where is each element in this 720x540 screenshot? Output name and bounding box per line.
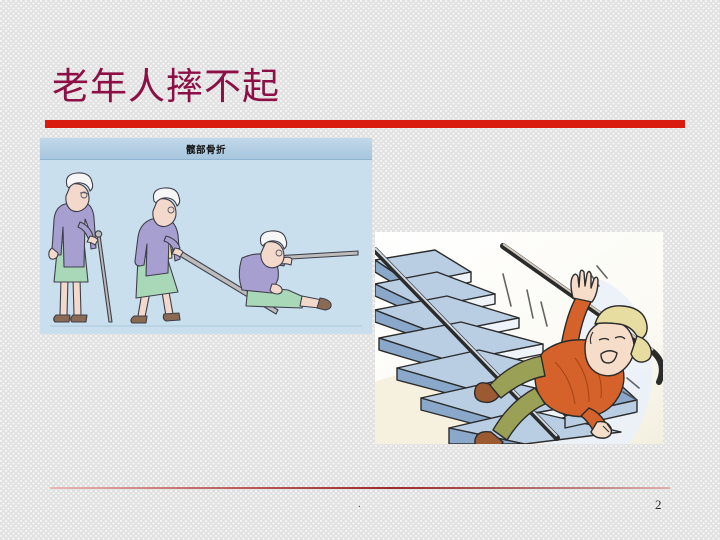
elderly-fall-sequence-illustration: .ol{stroke:#3f3f4a;stroke-width:1.1;stro… — [40, 160, 372, 334]
figure-stage-standing — [49, 173, 112, 322]
title-accent-bar — [45, 120, 685, 128]
figure-caption-bar: 髋部骨折 — [40, 138, 372, 160]
page-number: 2 — [655, 497, 662, 513]
figure-hip-fracture-sequence[interactable]: 髋部骨折 .ol{stroke:#3f3f4a;stroke-width:1.1… — [40, 138, 372, 334]
figure-stage-fallen — [239, 231, 358, 310]
figure-illustration-area: .ol{stroke:#3f3f4a;stroke-width:1.1;stro… — [40, 160, 372, 334]
figure-escalator-fall[interactable]: .so{stroke:#2b2b2b;stroke-width:1.4;stro… — [375, 232, 663, 444]
figure-caption-text: 髋部骨折 — [186, 142, 226, 156]
slide-canvas: 老年人摔不起 髋部骨折 .ol{stroke:#3f3f4a;stroke-wi… — [0, 0, 720, 540]
footer-marker: . — [358, 503, 361, 507]
footer-divider — [50, 487, 670, 489]
escalator-fall-illustration: .so{stroke:#2b2b2b;stroke-width:1.4;stro… — [375, 232, 663, 444]
page-title: 老年人摔不起 — [52, 66, 280, 108]
